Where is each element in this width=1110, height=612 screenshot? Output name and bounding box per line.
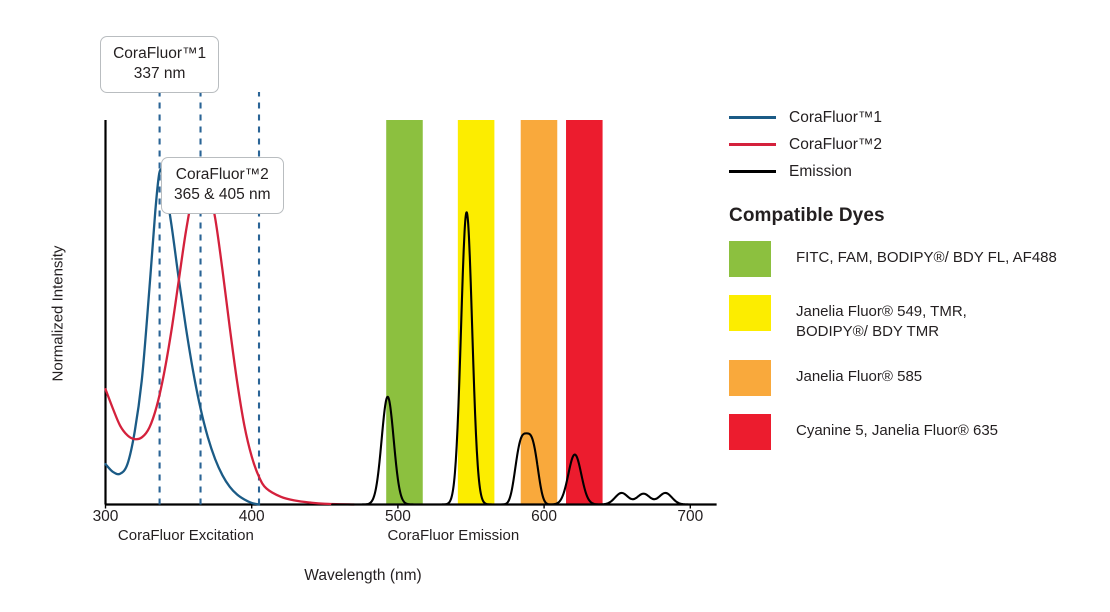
- legend-row-1: CoraFluor™1: [729, 104, 1099, 131]
- curve-excitation-1: [106, 170, 260, 505]
- legend-row-2: CoraFluor™2: [729, 131, 1099, 158]
- dye-label: Janelia Fluor® 585: [796, 360, 922, 387]
- callout-1-line2: 337 nm: [113, 64, 206, 84]
- legend-row-3: Emission: [729, 158, 1099, 185]
- x-tick-600: 600: [514, 508, 574, 526]
- curve-excitation-2: [106, 177, 355, 504]
- dye-color-swatch: [729, 414, 771, 450]
- dye-row-1: FITC, FAM, BODIPY®/ BDY FL, AF488: [729, 241, 1099, 277]
- callout-1-line1: CoraFluor™1: [113, 44, 206, 64]
- x-axis-title: Wavelength (nm): [0, 567, 726, 585]
- emission-band-4: [566, 120, 603, 505]
- callout-corafluor-1: CoraFluor™1 337 nm: [100, 36, 219, 93]
- callout-corafluor-2: CoraFluor™2 365 & 405 nm: [161, 157, 284, 214]
- legend-label: CoraFluor™2: [789, 136, 882, 154]
- dye-label: Janelia Fluor® 549, TMR,BODIPY®/ BDY TMR: [796, 295, 967, 342]
- dye-label: FITC, FAM, BODIPY®/ BDY FL, AF488: [796, 241, 1057, 268]
- dye-row-3: Janelia Fluor® 585: [729, 360, 1099, 396]
- dye-color-swatch: [729, 360, 771, 396]
- x-tick-500: 500: [368, 508, 428, 526]
- series-legend: CoraFluor™1CoraFluor™2Emission: [729, 104, 1099, 185]
- spectra-figure: CoraFluor™1 337 nm CoraFluor™2 365 & 405…: [0, 0, 1110, 612]
- y-axis-title: Normalized Intensity: [50, 214, 67, 414]
- dye-row-4: Cyanine 5, Janelia Fluor® 635: [729, 414, 1099, 450]
- x-tick-300: 300: [76, 508, 136, 526]
- callout-2-line2: 365 & 405 nm: [174, 185, 271, 205]
- emission-band-3: [521, 120, 558, 505]
- dye-color-swatch: [729, 295, 771, 331]
- emission-band-1: [386, 120, 423, 505]
- dye-color-swatch: [729, 241, 771, 277]
- legend-line-swatch: [729, 116, 776, 119]
- compatible-dyes-list: FITC, FAM, BODIPY®/ BDY FL, AF488Janelia…: [729, 241, 1099, 450]
- legend-line-swatch: [729, 143, 776, 146]
- callout-2-line1: CoraFluor™2: [174, 165, 271, 185]
- compatible-dyes-heading: Compatible Dyes: [729, 205, 1099, 227]
- legend-line-swatch: [729, 170, 776, 173]
- legend-panel: CoraFluor™1CoraFluor™2Emission Compatibl…: [729, 104, 1099, 468]
- legend-label: CoraFluor™1: [789, 109, 882, 127]
- x-tick-400: 400: [222, 508, 282, 526]
- x-sublabel-emission: CoraFluor Emission: [387, 527, 519, 544]
- x-tick-700: 700: [660, 508, 720, 526]
- dye-row-2: Janelia Fluor® 549, TMR,BODIPY®/ BDY TMR: [729, 295, 1099, 342]
- dye-label: Cyanine 5, Janelia Fluor® 635: [796, 414, 998, 441]
- x-sublabel-excitation: CoraFluor Excitation: [118, 527, 254, 544]
- legend-label: Emission: [789, 163, 852, 181]
